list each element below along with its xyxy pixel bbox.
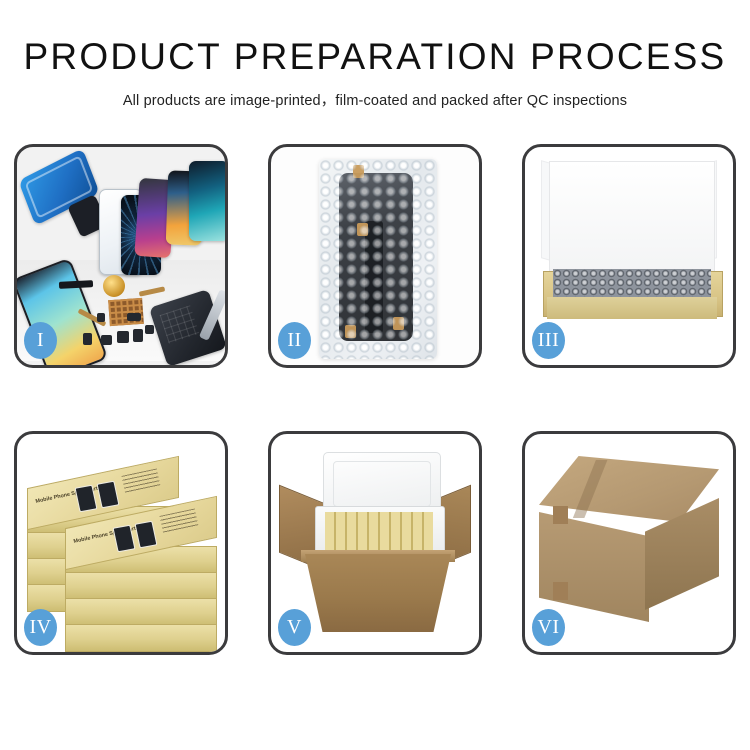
- small-component-icon: [145, 325, 154, 334]
- shipping-carton-icon: [305, 554, 451, 632]
- carton-tape-tab-icon: [553, 506, 568, 524]
- step-badge-3: III: [532, 322, 565, 359]
- carton-tape-tab-icon: [553, 582, 568, 600]
- packed-kraft-boxes-icon: [325, 512, 433, 550]
- step-panel-5[interactable]: V: [268, 431, 482, 655]
- step-panel-1[interactable]: I: [14, 144, 228, 368]
- tape-tab-icon: [393, 317, 404, 330]
- step-badge-4: IV: [24, 609, 57, 646]
- small-component-icon: [101, 335, 112, 345]
- tape-tab-icon: [345, 325, 356, 338]
- step-panel-4[interactable]: Mobile Phone Spare Parts Mobile Phone Sp…: [14, 431, 228, 655]
- tape-tab-icon: [357, 223, 368, 236]
- tape-tab-icon: [353, 165, 364, 178]
- flex-cable-icon: [365, 221, 383, 333]
- carton-front-face-icon: [539, 512, 649, 622]
- step-panel-2[interactable]: II: [268, 144, 482, 368]
- step-panel-6[interactable]: VI: [522, 431, 736, 655]
- kraft-box-side-icon: [65, 572, 217, 600]
- small-component-icon: [83, 333, 92, 345]
- step-badge-6: VI: [532, 609, 565, 646]
- speaker-module-icon: [103, 275, 125, 297]
- bubble-wrapped-contents-icon: [553, 269, 711, 297]
- small-component-icon: [117, 331, 129, 343]
- small-component-icon: [127, 313, 141, 321]
- page-header: PRODUCT PREPARATION PROCESS All products…: [0, 0, 750, 110]
- step-badge-1: I: [24, 322, 57, 359]
- phone-cyan-icon: [189, 161, 225, 241]
- kraft-box-side-icon: [65, 624, 217, 652]
- kraft-tray-front-icon: [547, 297, 717, 319]
- step-badge-2: II: [278, 322, 311, 359]
- chip-array-icon: [108, 298, 144, 326]
- page-title: PRODUCT PREPARATION PROCESS: [0, 38, 750, 75]
- kraft-box-side-icon: [65, 598, 217, 626]
- bubble-wrap-bag-icon: [319, 159, 437, 359]
- step-badge-5: V: [278, 609, 311, 646]
- small-component-icon: [133, 329, 143, 342]
- page-subtitle: All products are image-printed，film-coat…: [0, 89, 750, 110]
- small-component-icon: [97, 313, 105, 322]
- white-lid-icon: [549, 161, 715, 275]
- process-steps-grid: I II III: [14, 144, 736, 655]
- step-panel-3[interactable]: III: [522, 144, 736, 368]
- box-stack: Mobile Phone Spare Parts Mobile Phone Sp…: [25, 450, 225, 646]
